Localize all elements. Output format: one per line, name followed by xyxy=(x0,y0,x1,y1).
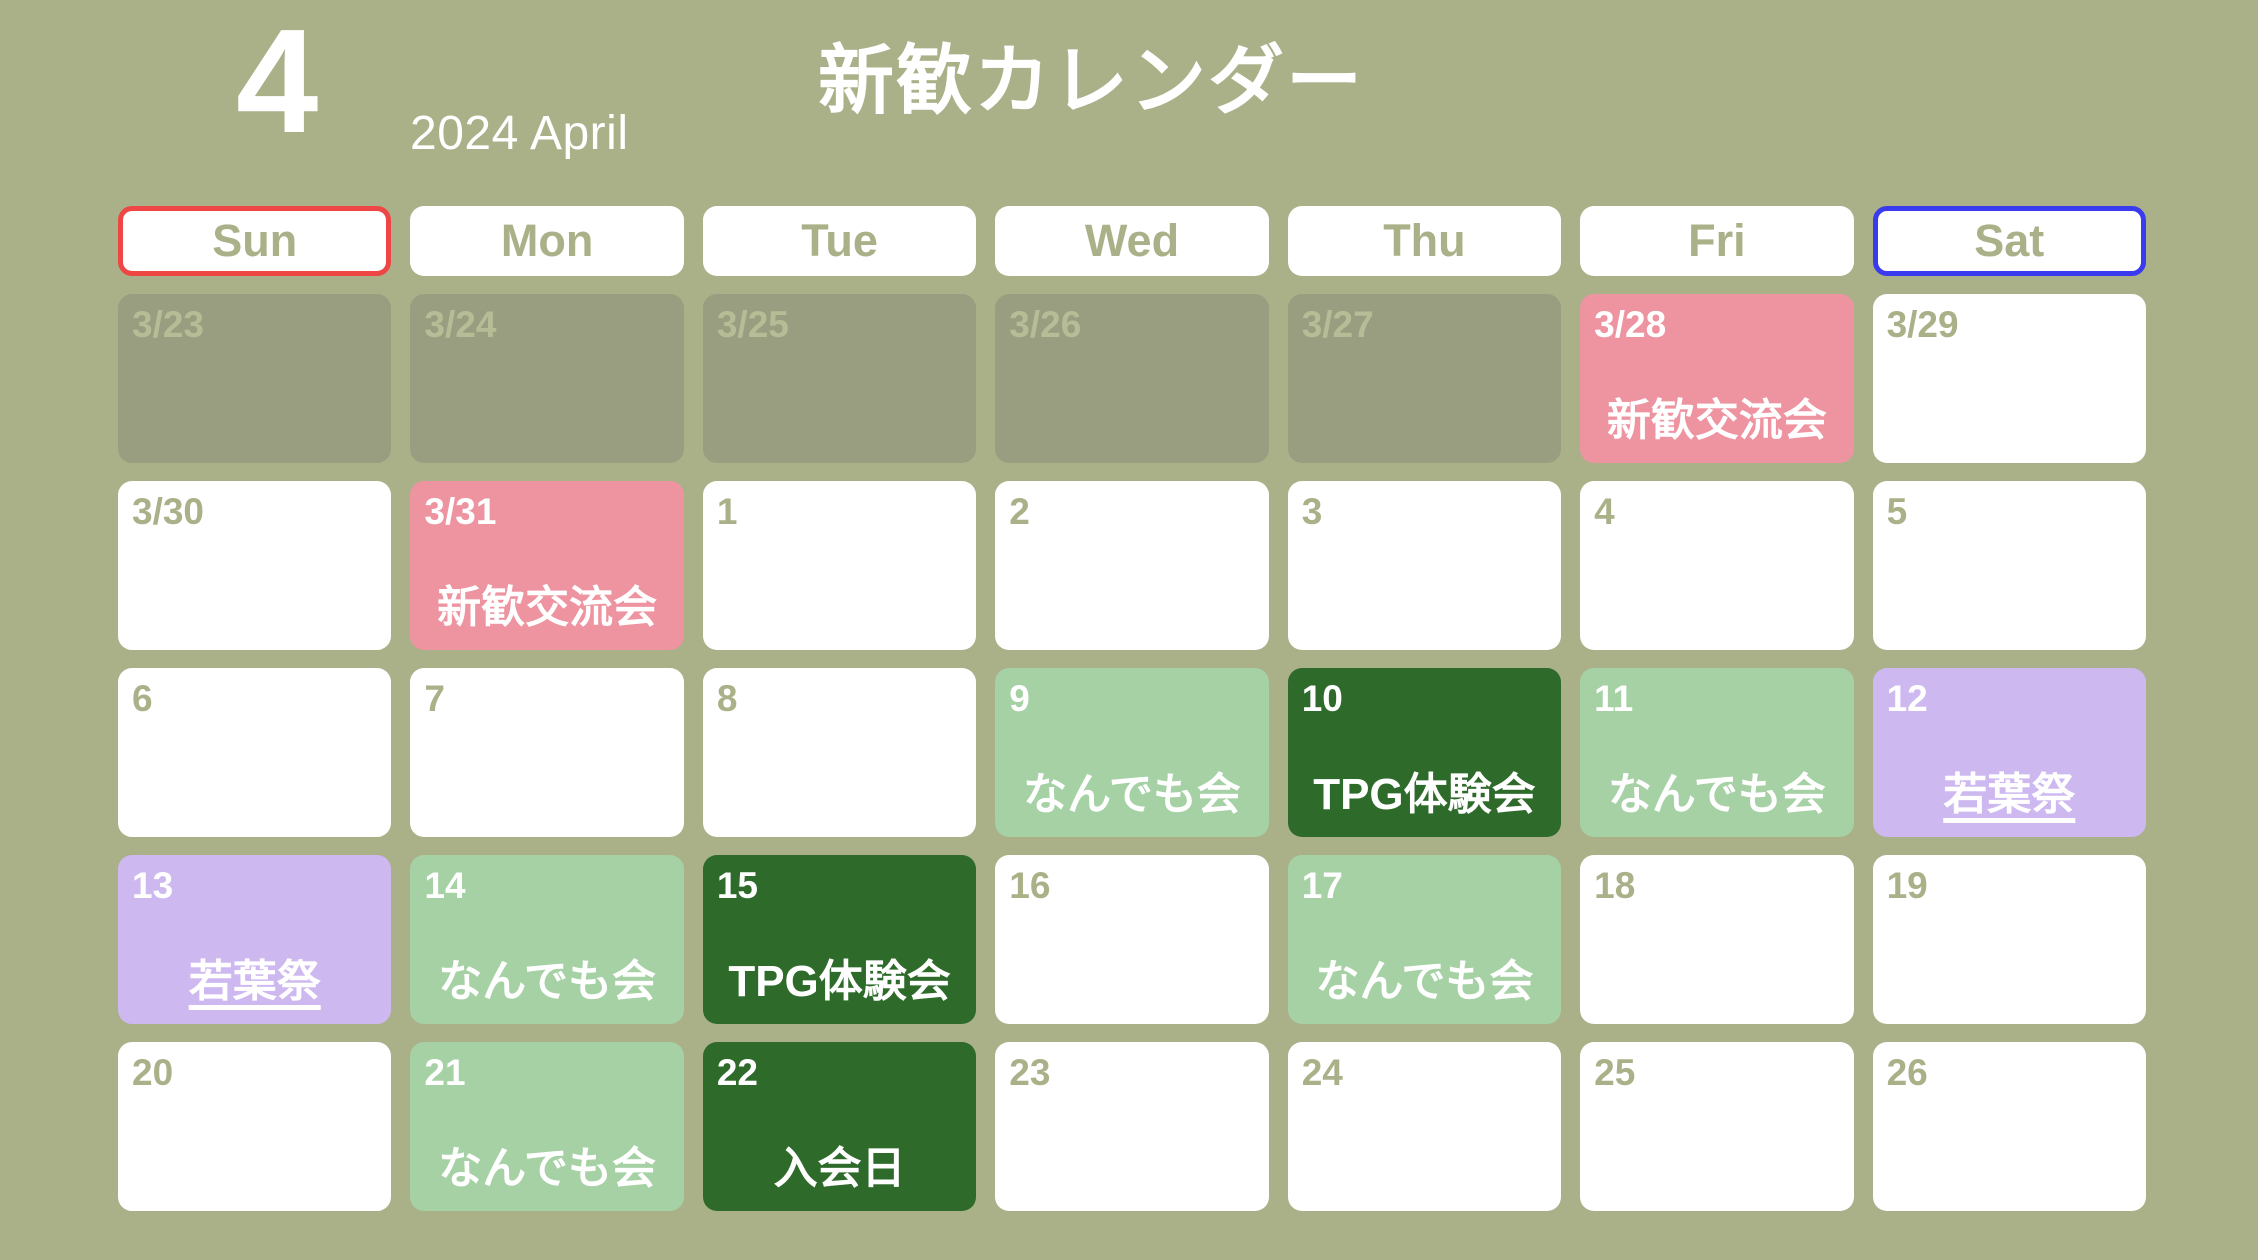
weekday-header-mon[interactable]: Mon xyxy=(410,206,683,276)
day-cell[interactable]: 25 xyxy=(1580,1042,1853,1211)
date-number: 22 xyxy=(717,1052,962,1094)
weekday-header-thu[interactable]: Thu xyxy=(1288,206,1561,276)
event-label: 若葉祭 xyxy=(132,958,377,1006)
date-number: 3/29 xyxy=(1887,304,2132,346)
calendar-header: 4 2024 April 新歓カレンダー xyxy=(0,0,2258,196)
event-label: なんでも会 xyxy=(1009,771,1254,819)
date-number: 3/28 xyxy=(1594,304,1839,346)
date-number: 6 xyxy=(132,678,377,720)
weekday-label: Wed xyxy=(1085,215,1179,267)
weekday-header-sun[interactable]: Sun xyxy=(118,206,391,276)
day-cell[interactable]: 7 xyxy=(410,668,683,837)
date-number: 3/24 xyxy=(424,304,669,346)
day-cell[interactable]: 22 入会日 xyxy=(703,1042,976,1211)
date-number: 15 xyxy=(717,865,962,907)
weekday-header-fri[interactable]: Fri xyxy=(1580,206,1853,276)
date-number: 3/26 xyxy=(1009,304,1254,346)
event-label: なんでも会 xyxy=(424,1145,669,1193)
day-cell[interactable]: 16 xyxy=(995,855,1268,1024)
day-cell[interactable]: 10 TPG体験会 xyxy=(1288,668,1561,837)
day-cell[interactable]: 3/31 新歓交流会 xyxy=(410,481,683,650)
event-label: なんでも会 xyxy=(1594,771,1839,819)
date-number: 19 xyxy=(1887,865,2132,907)
date-number: 11 xyxy=(1594,678,1839,720)
event-label: 新歓交流会 xyxy=(1594,397,1839,445)
weekday-header-tue[interactable]: Tue xyxy=(703,206,976,276)
date-number: 25 xyxy=(1594,1052,1839,1094)
date-number: 26 xyxy=(1887,1052,2132,1094)
day-cell[interactable]: 20 xyxy=(118,1042,391,1211)
day-cell[interactable]: 15 TPG体験会 xyxy=(703,855,976,1024)
date-number: 13 xyxy=(132,865,377,907)
date-number: 23 xyxy=(1009,1052,1254,1094)
day-cell[interactable]: 3/23 xyxy=(118,294,391,463)
weekday-label: Thu xyxy=(1383,215,1465,267)
date-number: 3 xyxy=(1302,491,1547,533)
day-cell[interactable]: 19 xyxy=(1873,855,2146,1024)
day-cell[interactable]: 14 なんでも会 xyxy=(410,855,683,1024)
weekday-label: Fri xyxy=(1688,215,1746,267)
page-title: 新歓カレンダー xyxy=(818,42,1364,122)
event-label: TPG体験会 xyxy=(1302,771,1547,819)
day-cell[interactable]: 12 若葉祭 xyxy=(1873,668,2146,837)
date-number: 3/31 xyxy=(424,491,669,533)
month-number: 4 xyxy=(236,8,316,156)
date-number: 3/27 xyxy=(1302,304,1547,346)
day-cell[interactable]: 1 xyxy=(703,481,976,650)
day-cell[interactable]: 24 xyxy=(1288,1042,1561,1211)
date-number: 5 xyxy=(1887,491,2132,533)
calendar-root: 4 2024 April 新歓カレンダー Sun Mon Tue Wed Thu… xyxy=(0,0,2258,1260)
day-cell[interactable]: 8 xyxy=(703,668,976,837)
day-cell[interactable]: 3/24 xyxy=(410,294,683,463)
day-cell[interactable]: 4 xyxy=(1580,481,1853,650)
event-label: なんでも会 xyxy=(1302,958,1547,1006)
date-number: 2 xyxy=(1009,491,1254,533)
day-cell[interactable]: 3/30 xyxy=(118,481,391,650)
weekday-header-wed[interactable]: Wed xyxy=(995,206,1268,276)
date-number: 3/23 xyxy=(132,304,377,346)
date-number: 17 xyxy=(1302,865,1547,907)
date-number: 20 xyxy=(132,1052,377,1094)
weekday-label: Sun xyxy=(212,215,297,267)
weekday-label: Mon xyxy=(501,215,593,267)
event-label: 若葉祭 xyxy=(1887,771,2132,819)
date-number: 3/25 xyxy=(717,304,962,346)
event-label: TPG体験会 xyxy=(717,958,962,1006)
day-cell[interactable]: 13 若葉祭 xyxy=(118,855,391,1024)
date-number: 4 xyxy=(1594,491,1839,533)
month-year-label: 2024 April xyxy=(410,110,629,158)
day-cell[interactable]: 2 xyxy=(995,481,1268,650)
event-label: なんでも会 xyxy=(424,958,669,1006)
day-cell[interactable]: 3/28 新歓交流会 xyxy=(1580,294,1853,463)
date-number: 7 xyxy=(424,678,669,720)
calendar-grid: Sun Mon Tue Wed Thu Fri Sat 3/23 3/24 xyxy=(118,206,2146,1211)
date-number: 18 xyxy=(1594,865,1839,907)
day-cell[interactable]: 3/26 xyxy=(995,294,1268,463)
day-cell[interactable]: 3 xyxy=(1288,481,1561,650)
date-number: 9 xyxy=(1009,678,1254,720)
day-cell[interactable]: 3/25 xyxy=(703,294,976,463)
date-number: 21 xyxy=(424,1052,669,1094)
date-number: 12 xyxy=(1887,678,2132,720)
day-cell[interactable]: 3/27 xyxy=(1288,294,1561,463)
date-number: 24 xyxy=(1302,1052,1547,1094)
day-cell[interactable]: 21 なんでも会 xyxy=(410,1042,683,1211)
weekday-header-sat[interactable]: Sat xyxy=(1873,206,2146,276)
day-cell[interactable]: 3/29 xyxy=(1873,294,2146,463)
date-number: 16 xyxy=(1009,865,1254,907)
weekday-label: Tue xyxy=(801,215,878,267)
day-cell[interactable]: 5 xyxy=(1873,481,2146,650)
day-cell[interactable]: 23 xyxy=(995,1042,1268,1211)
date-number: 8 xyxy=(717,678,962,720)
date-number: 14 xyxy=(424,865,669,907)
day-cell[interactable]: 11 なんでも会 xyxy=(1580,668,1853,837)
event-label: 入会日 xyxy=(717,1145,962,1193)
date-number: 10 xyxy=(1302,678,1547,720)
day-cell[interactable]: 17 なんでも会 xyxy=(1288,855,1561,1024)
date-number: 1 xyxy=(717,491,962,533)
event-label: 新歓交流会 xyxy=(424,584,669,632)
weekday-label: Sat xyxy=(1974,215,2044,267)
day-cell[interactable]: 9 なんでも会 xyxy=(995,668,1268,837)
date-number: 3/30 xyxy=(132,491,377,533)
day-cell[interactable]: 18 xyxy=(1580,855,1853,1024)
day-cell[interactable]: 6 xyxy=(118,668,391,837)
day-cell[interactable]: 26 xyxy=(1873,1042,2146,1211)
